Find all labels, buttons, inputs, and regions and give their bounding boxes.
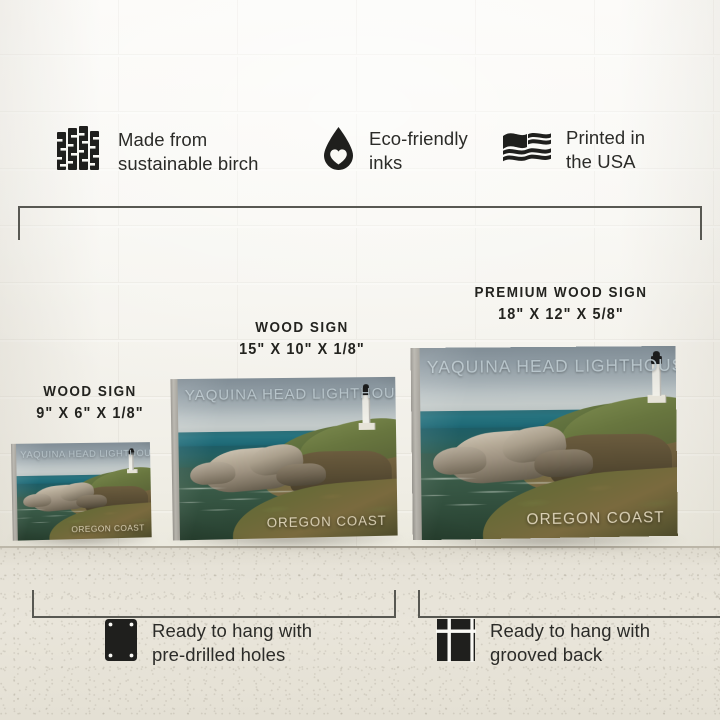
product-infographic-scene: Made from sustainable birch Eco-friendly… xyxy=(0,0,720,720)
feature-pre-drilled-holes: Ready to hang with pre-drilled holes xyxy=(104,618,312,667)
grooved-back-icon xyxy=(436,618,476,667)
pre-drilled-plate-icon xyxy=(104,618,138,667)
product-sign-medium[interactable]: YAQUINA HEAD LIGHTHOUSE OREGON COAST xyxy=(170,377,397,541)
product-label-medium: WOOD SIGN 15" X 10" X 1/8" xyxy=(194,318,410,361)
feature-label-sustainable-birch: Made from sustainable birch xyxy=(118,128,259,175)
usa-flag-icon xyxy=(502,127,552,172)
bracket-tick-left xyxy=(32,590,34,618)
artwork-title-large: YAQUINA HEAD LIGHTHOUSE xyxy=(411,355,676,378)
birch-logs-icon xyxy=(56,126,104,177)
product-dimensions-small: 9" X 6" X 1/8" xyxy=(6,403,173,425)
feature-eco-friendly-inks: Eco-friendly inks xyxy=(322,126,468,176)
ink-drop-heart-icon xyxy=(322,126,355,176)
bracket-tick-right xyxy=(700,206,702,240)
product-label-small: WOOD SIGN 9" X 6" X 1/8" xyxy=(6,382,173,425)
bracket-tick-left xyxy=(18,206,20,240)
artwork-subtitle-small: OREGON COAST xyxy=(71,523,145,535)
bracket-tick-right xyxy=(394,590,396,618)
bracket-line xyxy=(18,206,702,208)
product-sign-small[interactable]: YAQUINA HEAD LIGHTHOUSE OREGON COAST xyxy=(11,442,152,541)
artwork-subtitle-large: OREGON COAST xyxy=(526,509,665,529)
feature-grooved-back: Ready to hang with grooved back xyxy=(436,618,650,667)
product-name-small: WOOD SIGN xyxy=(6,382,173,403)
artwork-title-medium: YAQUINA HEAD LIGHTHOUSE xyxy=(171,385,396,404)
feature-printed-in-usa: Printed in the USA xyxy=(502,126,645,173)
product-dimensions-medium: 15" X 10" X 1/8" xyxy=(194,339,410,361)
bottom-feature-row: Ready to hang with pre-drilled holes Rea… xyxy=(0,618,720,688)
feature-label-grooved-back: Ready to hang with grooved back xyxy=(490,619,650,666)
feature-sustainable-birch: Made from sustainable birch xyxy=(56,126,259,177)
product-name-large: PREMIUM WOOD SIGN xyxy=(441,283,681,304)
product-sign-large[interactable]: YAQUINA HEAD LIGHTHOUSE OREGON COAST xyxy=(410,346,677,540)
artwork-title-small: YAQUINA HEAD LIGHTHOUSE xyxy=(11,447,150,460)
product-dimensions-large: 18" X 12" X 5/8" xyxy=(441,304,681,326)
product-label-large: PREMIUM WOOD SIGN 18" X 12" X 5/8" xyxy=(441,283,681,326)
top-feature-row: Made from sustainable birch Eco-friendly… xyxy=(0,124,720,198)
feature-label-printed-in-usa: Printed in the USA xyxy=(566,126,645,173)
feature-label-pre-drilled-holes: Ready to hang with pre-drilled holes xyxy=(152,619,312,666)
top-divider-bracket xyxy=(0,200,720,246)
artwork-subtitle-medium: OREGON COAST xyxy=(267,513,387,530)
bracket-tick-left xyxy=(418,590,420,618)
product-name-medium: WOOD SIGN xyxy=(194,318,410,339)
feature-label-eco-friendly-inks: Eco-friendly inks xyxy=(369,127,468,174)
